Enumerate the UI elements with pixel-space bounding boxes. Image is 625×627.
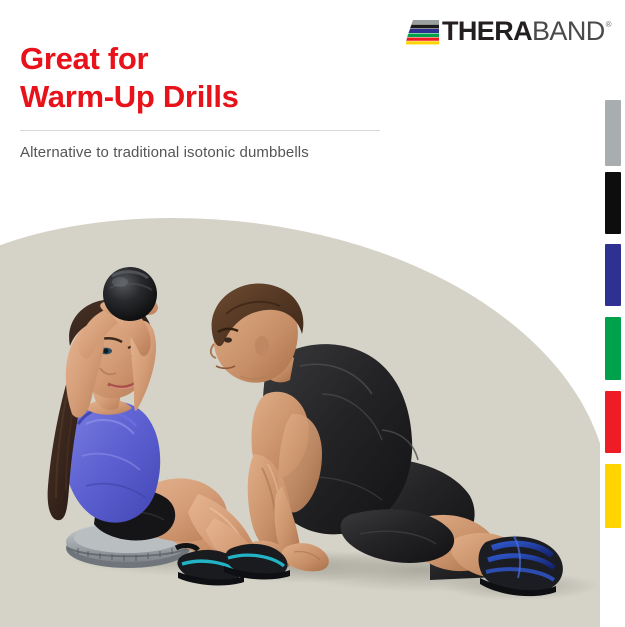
photo-stage — [0, 218, 600, 627]
color-chip-silver — [605, 100, 621, 166]
shoe-male — [479, 536, 563, 596]
color-chip-green — [605, 317, 621, 380]
page-subtitle: Alternative to traditional isotonic dumb… — [20, 144, 440, 161]
page-title: Great for Warm-Up Drills — [20, 40, 400, 116]
theraband-stripes-mark-icon — [406, 19, 440, 45]
title-divider-rule — [20, 130, 380, 131]
logo-band-text: BAND — [532, 18, 605, 45]
theraband-wordmark: THERA BAND ® — [442, 18, 611, 45]
logo-thera-text: THERA — [442, 18, 532, 45]
headline-line-2: Warm-Up Drills — [20, 78, 400, 116]
slide-canvas: THERA BAND ® Great for Warm-Up Drills Al… — [0, 0, 625, 627]
medicine-ball — [103, 267, 157, 321]
color-chip-blue — [605, 244, 621, 306]
exercise-photo — [0, 218, 600, 627]
resistance-color-chips — [605, 0, 621, 627]
theraband-logo: THERA BAND ® — [406, 18, 611, 50]
color-chip-yellow — [605, 464, 621, 528]
color-chip-red — [605, 391, 621, 453]
headline-line-1: Great for — [20, 40, 400, 78]
color-chip-black — [605, 172, 621, 234]
